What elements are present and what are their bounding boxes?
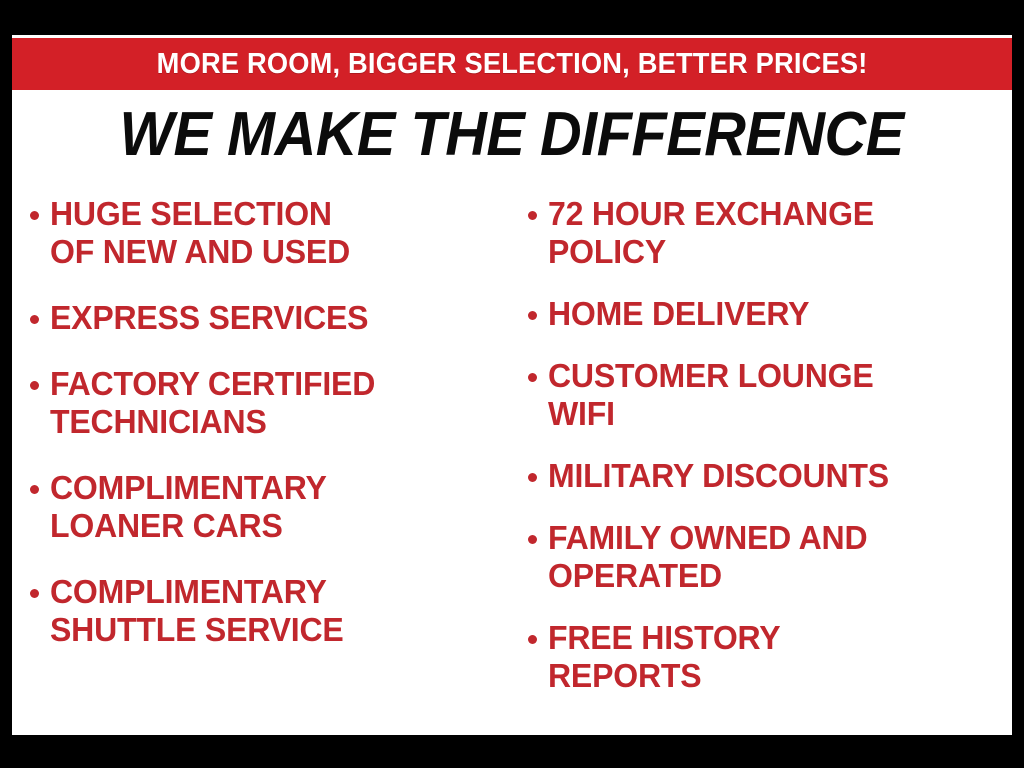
bullet-dot-icon [528,311,537,320]
list-item-label: FAMILY OWNED AND OPERATED [548,519,867,595]
bullet-dot-icon [30,485,39,494]
bullet-dot-icon [30,211,39,220]
list-item: HOME DELIVERY [528,295,1012,333]
bullet-dot-icon [528,635,537,644]
bullet-dot-icon [30,589,39,598]
list-item: HUGE SELECTION OF NEW AND USED [30,195,520,271]
feature-column-right: 72 HOUR EXCHANGE POLICY HOME DELIVERY CU… [520,195,1012,719]
list-item: 72 HOUR EXCHANGE POLICY [528,195,1012,271]
list-item: FAMILY OWNED AND OPERATED [528,519,1012,595]
promo-banner: MORE ROOM, BIGGER SELECTION, BETTER PRIC… [12,38,1012,90]
list-item-label: MILITARY DISCOUNTS [548,457,889,495]
bullet-dot-icon [30,381,39,390]
feature-column-left: HUGE SELECTION OF NEW AND USED EXPRESS S… [12,195,520,677]
list-item: CUSTOMER LOUNGE WIFI [528,357,1012,433]
list-item-label: COMPLIMENTARY LOANER CARS [50,469,327,545]
bullet-dot-icon [528,373,537,382]
list-item-label: FACTORY CERTIFIED TECHNICIANS [50,365,375,441]
list-item: FREE HISTORY REPORTS [528,619,1012,695]
list-item-label: COMPLIMENTARY SHUTTLE SERVICE [50,573,344,649]
bullet-dot-icon [528,211,537,220]
list-item-label: CUSTOMER LOUNGE WIFI [548,357,874,433]
bullet-dot-icon [30,315,39,324]
feature-columns: HUGE SELECTION OF NEW AND USED EXPRESS S… [12,195,1012,735]
list-item-label: HOME DELIVERY [548,295,809,333]
bullet-dot-icon [528,535,537,544]
bullet-dot-icon [528,473,537,482]
list-item: COMPLIMENTARY SHUTTLE SERVICE [30,573,520,649]
list-item: COMPLIMENTARY LOANER CARS [30,469,520,545]
page-title: WE MAKE THE DIFFERENCE [12,103,1012,167]
poster-frame: MORE ROOM, BIGGER SELECTION, BETTER PRIC… [0,0,1024,768]
list-item-label: EXPRESS SERVICES [50,299,368,337]
list-item-label: HUGE SELECTION OF NEW AND USED [50,195,350,271]
list-item-label: FREE HISTORY REPORTS [548,619,780,695]
list-item-label: 72 HOUR EXCHANGE POLICY [548,195,874,271]
list-item: MILITARY DISCOUNTS [528,457,1012,495]
page-title-text: WE MAKE THE DIFFERENCE [120,103,904,167]
list-item: EXPRESS SERVICES [30,299,520,337]
sign-board: MORE ROOM, BIGGER SELECTION, BETTER PRIC… [12,35,1012,735]
promo-banner-text: MORE ROOM, BIGGER SELECTION, BETTER PRIC… [157,48,868,81]
list-item: FACTORY CERTIFIED TECHNICIANS [30,365,520,441]
